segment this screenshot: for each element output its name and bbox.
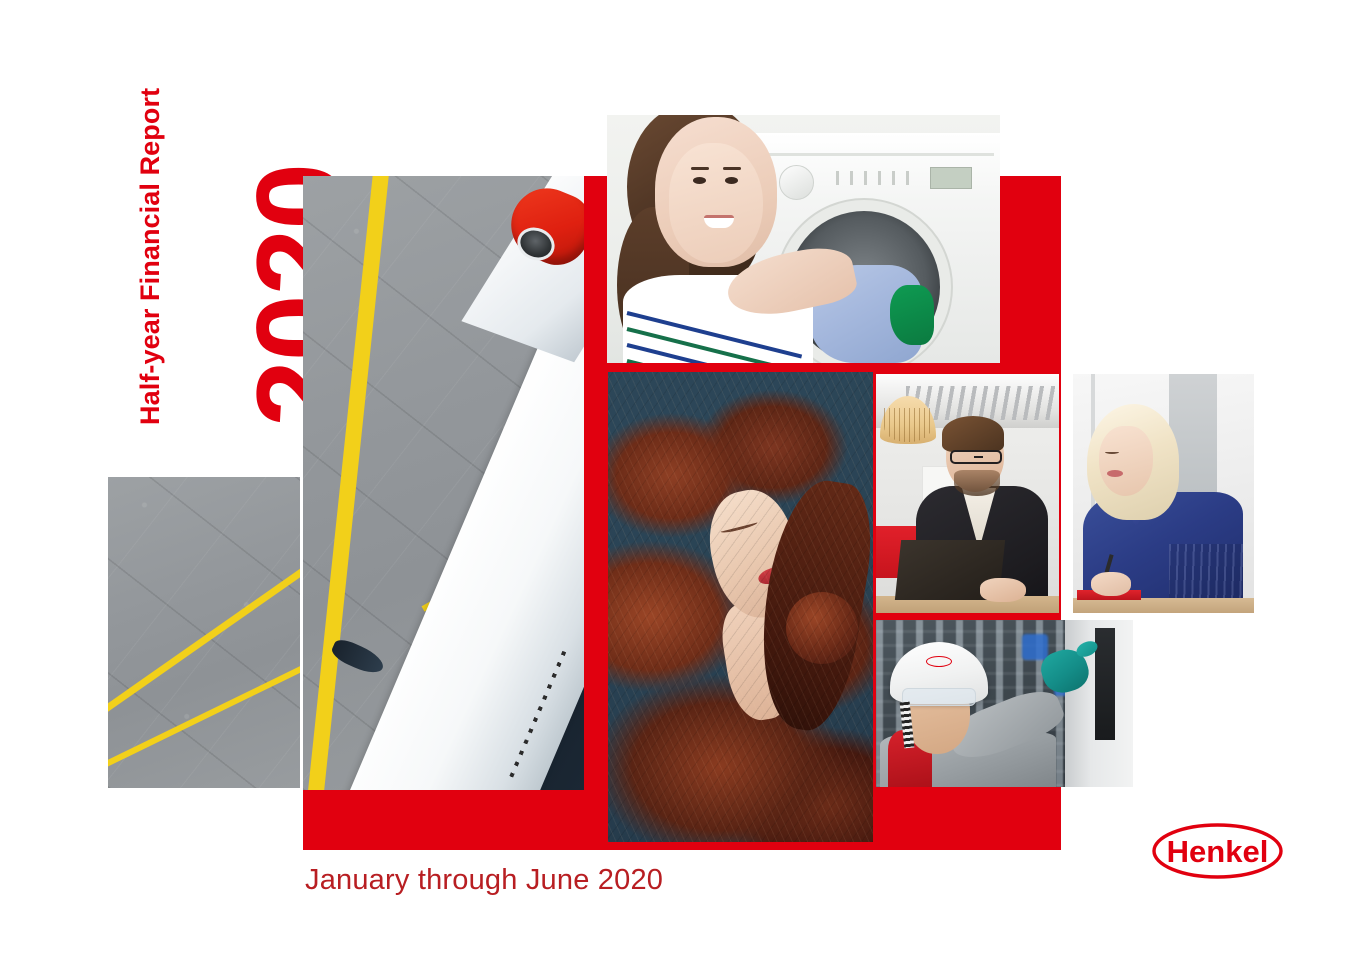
henkel-logo: Henkel — [1151, 822, 1284, 880]
eyeglasses-icon — [950, 450, 1002, 464]
man-hands — [980, 578, 1026, 602]
pendant-lamp-ribs — [884, 408, 932, 442]
man-beard — [954, 470, 1000, 496]
hair-strand-texture — [608, 372, 873, 842]
aircraft-engine — [500, 178, 584, 275]
woman-hand — [1091, 572, 1131, 596]
image-airplane — [303, 176, 584, 790]
aircraft-engine-inlet — [512, 222, 559, 266]
person-eyebrow — [691, 167, 709, 170]
svg-text:Henkel: Henkel — [1167, 834, 1269, 869]
runway-marking-line — [303, 176, 391, 790]
machine-buttons — [836, 171, 912, 185]
safety-glasses-icon — [902, 688, 976, 706]
person-smile — [704, 215, 734, 228]
image-tarmac-left — [108, 477, 300, 788]
report-cover: Half-year Financial Report 2020 — [0, 0, 1357, 960]
office-desk — [1073, 598, 1254, 613]
woman-eye — [1105, 450, 1119, 454]
aircraft-wing — [461, 176, 584, 362]
green-laundry — [890, 285, 934, 345]
cover-caption: January through June 2020 — [305, 864, 663, 897]
aircraft-shadow — [427, 397, 584, 790]
machine-dial — [779, 165, 814, 200]
hard-hat-logo — [926, 656, 952, 667]
image-office-man — [876, 374, 1059, 613]
person-face — [669, 143, 763, 263]
runway-marking-line — [422, 441, 585, 611]
woman-lips — [1107, 470, 1123, 477]
image-laundry — [607, 115, 1000, 363]
page-title: Half-year Financial Report — [135, 88, 166, 425]
equipment-panel-dark — [1095, 628, 1115, 740]
image-office-woman — [1073, 374, 1254, 613]
image-factory-worker — [876, 620, 1133, 787]
title-block: Half-year Financial Report 2020 — [0, 0, 300, 470]
runway-marking-line — [108, 543, 300, 738]
aircraft-cockpit — [329, 636, 387, 678]
machine-display — [930, 167, 972, 189]
woman-face — [1099, 426, 1153, 496]
runway-marking-line — [108, 621, 300, 771]
aircraft-windows — [508, 651, 566, 781]
aircraft-fuselage — [303, 280, 584, 790]
machine-panel-line — [756, 153, 994, 156]
image-hair-beauty — [608, 372, 873, 842]
equipment-detail — [1022, 634, 1048, 660]
person-eye — [693, 177, 706, 184]
man-hair — [942, 416, 1004, 452]
person-eyebrow — [723, 167, 741, 170]
person-eye — [725, 177, 738, 184]
